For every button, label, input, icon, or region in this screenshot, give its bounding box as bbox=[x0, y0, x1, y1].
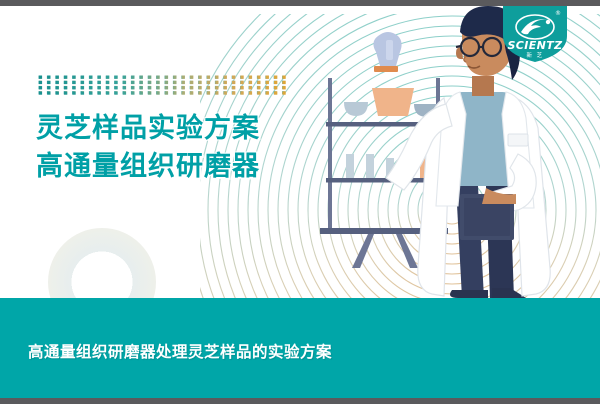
window-chrome-bottom-bar bbox=[0, 398, 600, 404]
poster-slide: 灵芝样品实验方案 高通量组织研磨器 SCIENTZ 新 芝 ® 高通量组织研磨器… bbox=[0, 0, 600, 404]
test-tube bbox=[386, 40, 393, 60]
headline-line-1: 灵芝样品实验方案 bbox=[36, 110, 260, 148]
logo-sub-wordmark: 新 芝 bbox=[527, 51, 544, 59]
bottom-banner: 高通量组织研磨器处理灵芝样品的实验方案 bbox=[0, 298, 600, 398]
dot-gradient-overlay bbox=[38, 75, 290, 96]
logo-wordmark: SCIENTZ bbox=[507, 39, 563, 52]
glove-cuff bbox=[374, 66, 398, 72]
page-title: 灵芝样品实验方案 高通量组织研磨器 bbox=[36, 110, 260, 186]
poster-canvas: 灵芝样品实验方案 高通量组织研磨器 SCIENTZ 新 芝 ® 高通量组织研磨器… bbox=[0, 6, 600, 398]
headline-line-2: 高通量组织研磨器 bbox=[36, 148, 260, 186]
banner-caption: 高通量组织研磨器处理灵芝样品的实验方案 bbox=[28, 340, 332, 362]
scientz-shield-logo[interactable]: SCIENTZ 新 芝 ® bbox=[503, 6, 567, 62]
window-chrome-top-bar bbox=[0, 0, 600, 6]
registered-mark-icon: ® bbox=[555, 10, 561, 17]
